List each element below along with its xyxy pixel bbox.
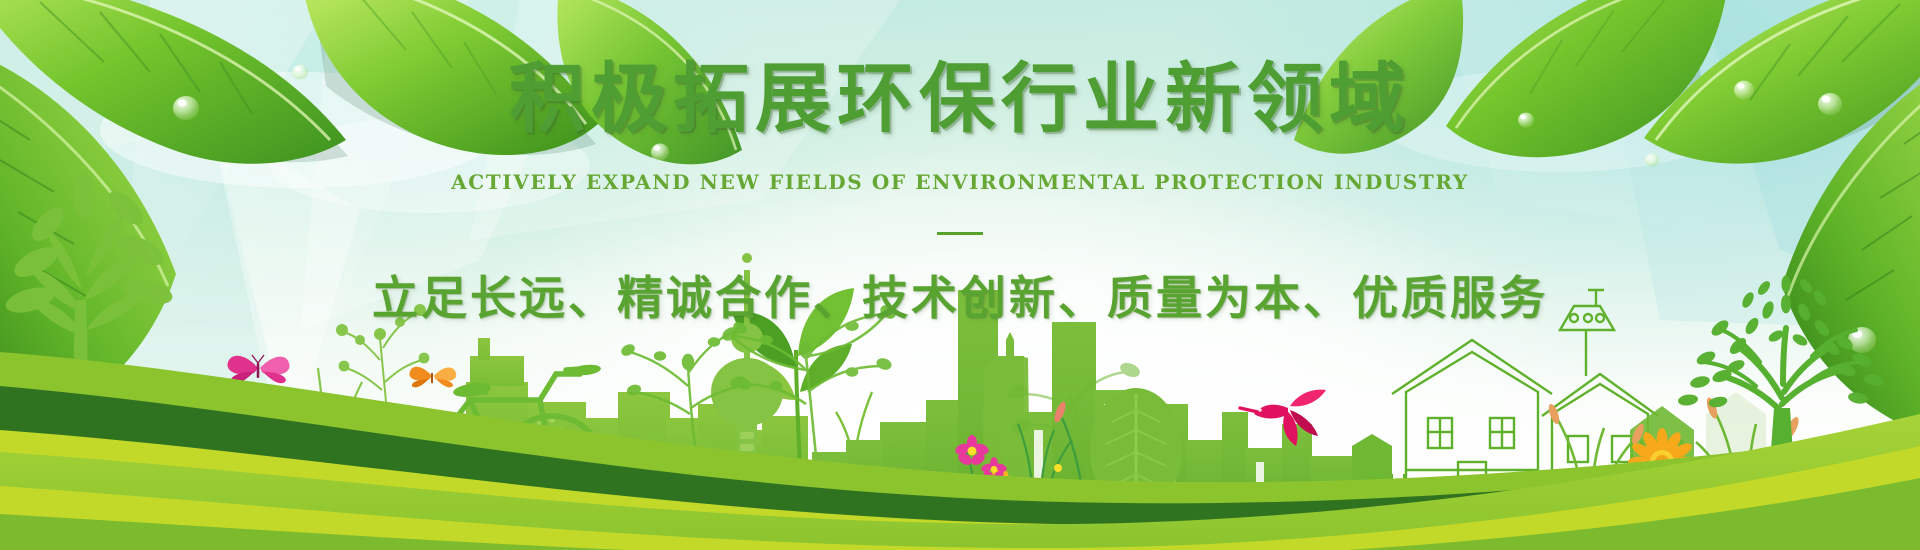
butterfly-icon [409, 367, 456, 388]
butterfly-icon [228, 355, 290, 383]
eco-scene [0, 0, 1920, 550]
eco-banner: 积极拓展环保行业新领域 ACTIVELY EXPAND NEW FIELDS O… [0, 0, 1920, 550]
